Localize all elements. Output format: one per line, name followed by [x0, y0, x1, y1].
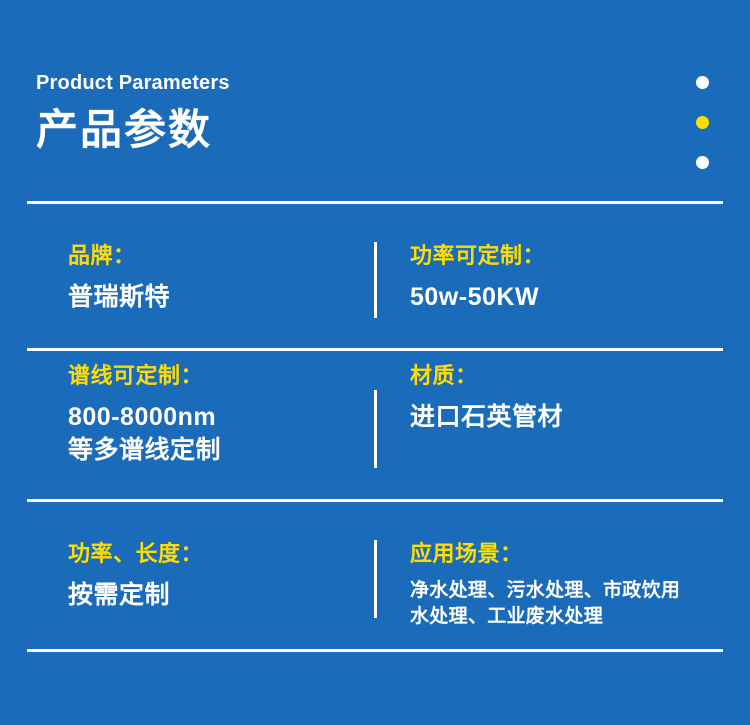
- column-divider-row-3: [374, 540, 377, 618]
- param-label: 功率可定制：: [410, 242, 720, 270]
- param-value: 800-8000nm 等多谱线定制: [68, 401, 358, 467]
- param-value-line: 等多谱线定制: [68, 434, 358, 467]
- param-power-customizable: 功率可定制： 50w-50KW: [410, 242, 720, 314]
- param-label: 谱线可定制：: [68, 362, 358, 390]
- separator-row-1: [27, 348, 723, 351]
- column-divider-row-1: [374, 242, 377, 318]
- product-parameters-poster: Product Parameters 产品参数 品牌： 普瑞斯特 功率可定制： …: [0, 0, 750, 725]
- param-power-length: 功率、长度： 按需定制: [68, 540, 358, 612]
- dot-bottom-icon: [696, 156, 709, 169]
- header-subtitle-en: Product Parameters: [36, 72, 636, 94]
- param-spectral-line: 谱线可定制： 800-8000nm 等多谱线定制: [68, 362, 358, 467]
- decorative-dots: [696, 76, 709, 169]
- param-label: 品牌：: [68, 242, 358, 270]
- separator-bottom: [27, 649, 723, 652]
- column-divider-row-2: [374, 390, 377, 468]
- param-value: 进口石英管材: [410, 401, 720, 434]
- separator-row-2: [27, 499, 723, 502]
- param-value-line: 水处理、工业废水处理: [410, 604, 720, 631]
- param-value: 按需定制: [68, 579, 358, 612]
- param-value: 普瑞斯特: [68, 281, 358, 314]
- header-block: Product Parameters 产品参数: [36, 72, 636, 154]
- param-label: 材质：: [410, 362, 720, 390]
- separator-top: [27, 201, 723, 204]
- dot-top-icon: [696, 76, 709, 89]
- param-value: 净水处理、污水处理、市政饮用 水处理、工业废水处理: [410, 578, 720, 632]
- param-material: 材质： 进口石英管材: [410, 362, 720, 434]
- param-value-line: 800-8000nm: [68, 401, 358, 434]
- param-value-line: 50w-50KW: [410, 281, 720, 314]
- param-value-line: 进口石英管材: [410, 401, 720, 434]
- param-value: 50w-50KW: [410, 281, 720, 314]
- param-value-line: 按需定制: [68, 579, 358, 612]
- param-application-scenario: 应用场景： 净水处理、污水处理、市政饮用 水处理、工业废水处理: [410, 540, 720, 631]
- param-value-line: 净水处理、污水处理、市政饮用: [410, 578, 720, 605]
- param-label: 应用场景：: [410, 540, 720, 568]
- param-value-line: 普瑞斯特: [68, 281, 358, 314]
- param-label: 功率、长度：: [68, 540, 358, 568]
- dot-middle-icon: [696, 116, 709, 129]
- page-title: 产品参数: [36, 106, 636, 154]
- param-brand: 品牌： 普瑞斯特: [68, 242, 358, 314]
